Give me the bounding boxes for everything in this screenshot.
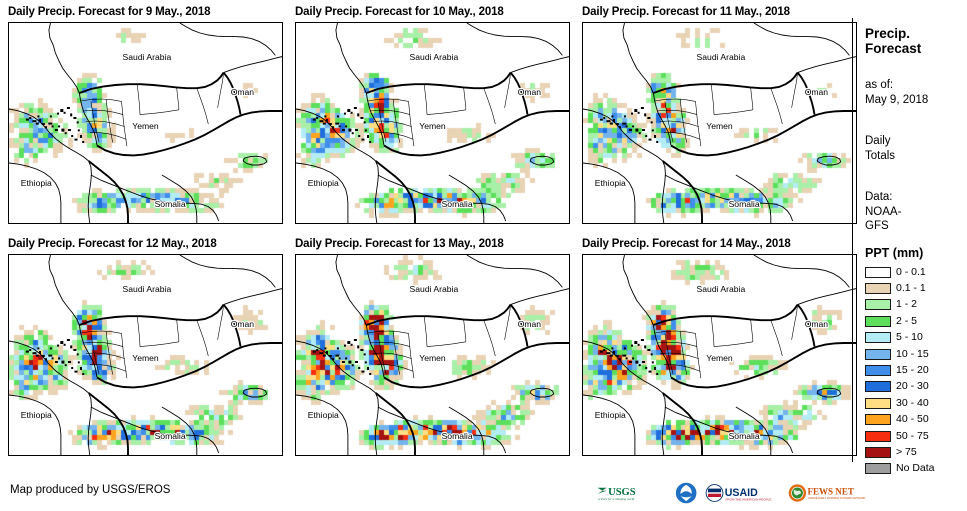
legend-label: 5 - 10 — [896, 332, 923, 343]
terrain-speckle — [642, 361, 645, 363]
country-label: Yemen — [419, 121, 446, 131]
national-border — [97, 111, 282, 155]
terrain-speckle — [313, 351, 316, 353]
legend-label: 0 - 0.1 — [896, 267, 926, 278]
terrain-speckle — [369, 141, 371, 143]
admin-boundary — [680, 99, 687, 142]
coastline — [296, 163, 348, 223]
terrain-speckle — [60, 109, 63, 112]
sidebar-asof-date: May 9, 2018 — [865, 93, 965, 108]
terrain-speckle — [348, 361, 351, 364]
coastline — [530, 388, 554, 397]
admin-boundary — [368, 99, 409, 101]
terrain-speckle — [64, 344, 66, 346]
legend-item: 5 - 10 — [865, 330, 935, 346]
national-border — [97, 343, 282, 387]
terrain-speckle — [351, 112, 353, 114]
national-border — [671, 343, 856, 387]
terrain-speckle — [652, 129, 654, 131]
admin-boundary — [657, 342, 697, 346]
terrain-speckle — [656, 373, 658, 375]
legend-label: 0.1 - 1 — [896, 283, 926, 294]
terrain-speckle — [324, 115, 326, 117]
terrain-speckle — [71, 135, 73, 137]
admin-boundary — [660, 121, 699, 127]
map-panel-title: Daily Precip. Forecast for 9 May., 2018 — [8, 6, 210, 18]
terrain-speckle — [639, 364, 641, 366]
terrain-speckle — [58, 125, 60, 127]
legend-swatch — [865, 414, 891, 425]
svg-text:USGS: USGS — [608, 487, 636, 498]
country-label: Ethiopia — [595, 178, 626, 188]
admin-boundary — [409, 101, 414, 146]
admin-boundary — [696, 333, 701, 378]
terrain-speckle — [55, 129, 58, 131]
country-label: Yemen — [706, 353, 733, 363]
terrain-speckle — [600, 351, 603, 353]
usgs-logo: USGS science for a changing world — [596, 480, 668, 506]
coastline — [467, 23, 563, 55]
legend-swatch — [865, 447, 891, 458]
national-border — [366, 305, 510, 325]
terrain-speckle — [624, 115, 626, 117]
terrain-speckle — [80, 367, 82, 370]
admin-boundary — [106, 331, 113, 374]
coastline — [336, 23, 384, 145]
terrain-speckle — [622, 355, 626, 357]
legend-item: No Data — [865, 461, 935, 477]
terrain-speckle — [50, 347, 52, 349]
coastline — [817, 388, 841, 397]
coastline — [224, 289, 282, 305]
coastline — [296, 341, 378, 455]
country-label: Saudi Arabia — [410, 284, 459, 294]
country-label: Ethiopia — [308, 410, 339, 420]
terrain-speckle — [355, 361, 358, 363]
admin-boundary — [137, 317, 140, 347]
legend-item: 0 - 0.1 — [865, 264, 935, 280]
legend-item: 20 - 30 — [865, 379, 935, 395]
coastline — [798, 57, 856, 73]
national-border — [663, 161, 702, 223]
sidebar-data-source: Data: NOAA- GFS — [865, 190, 965, 234]
admin-boundary — [409, 333, 414, 378]
legend-swatch — [865, 431, 891, 442]
terrain-speckle — [610, 123, 613, 125]
legend-label: 40 - 50 — [896, 414, 929, 425]
terrain-speckle — [357, 113, 359, 116]
legend: PPT (mm) 0 - 0.10.1 - 11 - 22 - 55 - 101… — [852, 246, 967, 474]
admin-boundary — [484, 88, 496, 124]
map-panel-title: Daily Precip. Forecast for 10 May., 2018 — [295, 6, 504, 18]
legend-item: 0.1 - 1 — [865, 280, 935, 296]
terrain-speckle — [629, 129, 632, 131]
terrain-speckle — [645, 367, 647, 369]
terrain-speckle — [52, 357, 54, 359]
terrain-speckle — [352, 364, 354, 366]
sidebar-title: Precip. Forecast — [865, 26, 965, 56]
admin-boundary — [714, 110, 753, 115]
terrain-speckle — [641, 339, 644, 341]
national-border — [376, 393, 415, 455]
terrain-speckle — [37, 347, 39, 349]
admin-boundary — [197, 88, 209, 124]
terrain-speckle — [367, 135, 369, 138]
precip-forecast-figure: Daily Precip. Forecast for 9 May., 2018S… — [0, 0, 967, 511]
country-label: Somalia — [155, 199, 186, 209]
terrain-speckle — [351, 344, 353, 346]
coastline — [665, 175, 793, 221]
terrain-speckle — [654, 367, 656, 370]
terrain-speckle — [649, 139, 652, 141]
terrain-speckle — [37, 115, 39, 117]
country-label: Yemen — [706, 121, 733, 131]
admin-boundary — [771, 320, 783, 356]
admin-boundary — [106, 99, 113, 142]
country-label: Somalia — [729, 431, 760, 441]
legend-divider — [852, 246, 853, 462]
admin-boundary — [370, 342, 410, 346]
admin-boundary — [657, 110, 697, 114]
coastline — [9, 109, 91, 223]
national-border — [89, 393, 128, 455]
terrain-speckle — [335, 123, 339, 125]
legend-item: 50 - 75 — [865, 428, 935, 444]
terrain-speckle — [357, 345, 359, 348]
terrain-speckle — [632, 357, 634, 359]
admin-boundary — [83, 342, 123, 346]
coastline — [583, 163, 635, 223]
admin-boundary — [424, 85, 427, 115]
admin-boundary — [660, 353, 699, 359]
terrain-speckle — [70, 345, 72, 348]
terrain-speckle — [647, 117, 650, 119]
admin-boundary — [86, 121, 125, 127]
map-vector-overlay: Saudi ArabiaSaudi ArabiaOmanOmanYemenYem… — [583, 255, 856, 455]
terrain-speckle — [635, 361, 638, 364]
admin-boundary — [81, 99, 122, 101]
legend-swatch — [865, 267, 891, 278]
country-label: Oman — [805, 319, 829, 329]
terrain-speckle — [600, 119, 603, 121]
terrain-speckle — [65, 132, 67, 134]
terrain-speckle — [358, 367, 360, 369]
terrain-speckle — [607, 352, 611, 354]
legend-label: 1 - 2 — [896, 299, 917, 310]
terrain-speckle — [362, 371, 365, 373]
admin-boundary — [484, 320, 496, 356]
terrain-speckle — [607, 120, 611, 122]
national-border — [366, 73, 510, 93]
terrain-speckle — [622, 123, 626, 125]
terrain-speckle — [360, 349, 363, 351]
admin-boundary — [714, 342, 753, 347]
terrain-speckle — [33, 352, 37, 354]
terrain-speckle — [55, 361, 58, 363]
country-label: Ethiopia — [21, 178, 52, 188]
svg-text:science for a changing world: science for a changing world — [598, 497, 634, 501]
admin-boundary — [373, 353, 412, 359]
sidebar-data-line1: NOAA- — [865, 205, 965, 220]
terrain-speckle — [610, 355, 613, 357]
terrain-speckle — [364, 121, 366, 123]
coastline — [91, 407, 219, 453]
country-label: Yemen — [132, 121, 159, 131]
terrain-speckle — [339, 357, 341, 359]
coastline — [224, 57, 282, 73]
terrain-speckle — [342, 361, 345, 363]
country-label: Ethiopia — [595, 410, 626, 420]
country-label: Somalia — [729, 199, 760, 209]
terrain-speckle — [634, 341, 637, 344]
admin-boundary — [393, 331, 400, 374]
national-border — [653, 73, 797, 93]
terrain-speckle — [344, 113, 346, 115]
terrain-speckle — [352, 132, 354, 134]
terrain-speckle — [365, 129, 367, 131]
terrain-speckle — [360, 117, 363, 119]
terrain-speckle — [58, 357, 60, 359]
map-panel: Daily Precip. Forecast for 9 May., 2018S… — [8, 6, 283, 224]
noaa-logo — [675, 480, 697, 506]
sidebar-totals-line1: Daily — [865, 134, 965, 149]
legend-swatch — [865, 398, 891, 409]
admin-boundary — [140, 342, 179, 347]
terrain-speckle — [67, 339, 70, 341]
country-label: Oman — [805, 87, 829, 97]
terrain-speckle — [367, 367, 369, 370]
coastline — [243, 388, 267, 397]
terrain-speckle — [354, 107, 357, 109]
terrain-speckle — [651, 353, 653, 355]
terrain-speckle — [342, 129, 345, 131]
national-border — [79, 73, 223, 93]
terrain-speckle — [645, 135, 647, 137]
admin-boundary — [424, 317, 427, 347]
coastline — [336, 255, 384, 377]
admin-boundary — [771, 88, 783, 124]
country-label: Oman — [231, 319, 255, 329]
admin-boundary — [177, 319, 179, 341]
map-panel-title: Daily Precip. Forecast for 14 May., 2018 — [582, 238, 791, 250]
svg-text:FEWS NET: FEWS NET — [807, 486, 853, 496]
coastline — [9, 163, 61, 223]
terrain-speckle — [652, 361, 654, 363]
terrain-speckle — [316, 349, 318, 351]
terrain-speckle — [339, 125, 341, 127]
map-vector-overlay: Saudi ArabiaSaudi ArabiaOmanOmanYemenYem… — [296, 255, 569, 455]
admin-boundary — [83, 110, 123, 114]
legend-swatch — [865, 463, 891, 474]
coastline — [530, 156, 554, 165]
terrain-speckle — [654, 135, 656, 138]
admin-boundary — [197, 320, 209, 356]
terrain-speckle — [29, 349, 31, 351]
national-border — [663, 393, 702, 455]
map-vector-overlay: Saudi ArabiaSaudi ArabiaOmanOmanYemenYem… — [9, 23, 282, 223]
terrain-speckle — [639, 132, 641, 134]
country-label: Somalia — [442, 199, 473, 209]
terrain-speckle — [324, 347, 326, 349]
map-panel-frame[interactable]: Saudi ArabiaSaudi ArabiaOmanOmanYemenYem… — [582, 254, 857, 456]
admin-boundary — [711, 317, 714, 347]
terrain-speckle — [624, 347, 626, 349]
map-panel: Daily Precip. Forecast for 11 May., 2018… — [582, 6, 857, 224]
map-panel-frame[interactable]: Saudi ArabiaSaudi ArabiaOmanOmanYemenYem… — [295, 254, 570, 456]
admin-boundary — [655, 99, 696, 101]
terrain-speckle — [611, 115, 613, 117]
terrain-speckle — [48, 355, 52, 357]
coastline — [583, 109, 665, 223]
country-label: Yemen — [419, 353, 446, 363]
legend-label: 10 - 15 — [896, 349, 929, 360]
admin-boundary — [370, 110, 410, 114]
terrain-speckle — [77, 121, 79, 123]
legend-item: 40 - 50 — [865, 412, 935, 428]
admin-boundary — [368, 331, 409, 333]
country-label: Saudi Arabia — [123, 284, 172, 294]
admin-boundary — [427, 110, 466, 115]
map-panel-title: Daily Precip. Forecast for 11 May., 2018 — [582, 6, 790, 18]
terrain-speckle — [649, 371, 652, 373]
terrain-speckle — [651, 121, 653, 123]
admin-boundary — [122, 101, 127, 146]
admin-boundary — [751, 87, 753, 109]
admin-boundary — [464, 319, 466, 341]
map-panel: Daily Precip. Forecast for 13 May., 2018… — [295, 238, 570, 456]
coastline — [9, 395, 61, 455]
coastline — [378, 175, 506, 221]
coastline — [583, 395, 635, 455]
terrain-speckle — [75, 139, 78, 141]
national-border — [376, 161, 415, 223]
coastline — [180, 255, 276, 287]
terrain-speckle — [345, 357, 347, 359]
legend-item: 2 - 5 — [865, 313, 935, 329]
admin-boundary — [680, 331, 687, 374]
coastline — [623, 255, 671, 377]
map-panel-frame[interactable]: Saudi ArabiaSaudi ArabiaOmanOmanYemenYem… — [295, 22, 570, 224]
terrain-speckle — [64, 112, 66, 114]
terrain-speckle — [337, 347, 339, 349]
coastline — [754, 23, 850, 55]
terrain-speckle — [603, 117, 605, 119]
sidebar-data-label: Data: — [865, 190, 965, 205]
terrain-speckle — [634, 109, 637, 112]
terrain-speckle — [320, 120, 324, 122]
legend-swatch — [865, 332, 891, 343]
coastline — [296, 109, 378, 223]
map-panel-frame[interactable]: Saudi ArabiaSaudi ArabiaOmanOmanYemenYem… — [8, 254, 283, 456]
admin-boundary — [393, 99, 400, 142]
admin-boundary — [464, 87, 466, 109]
legend-label: 20 - 30 — [896, 381, 929, 392]
terrain-speckle — [631, 345, 633, 347]
admin-boundary — [655, 331, 696, 333]
legend-label: 15 - 20 — [896, 365, 929, 376]
terrain-speckle — [73, 349, 76, 351]
map-vector-overlay: Saudi ArabiaSaudi ArabiaOmanOmanYemenYem… — [9, 255, 282, 455]
country-label: Somalia — [442, 431, 473, 441]
coastline — [467, 255, 563, 287]
legend-item: 30 - 40 — [865, 395, 935, 411]
terrain-speckle — [323, 123, 326, 125]
sidebar-asof: as of: May 9, 2018 — [865, 78, 965, 107]
coastline — [49, 255, 97, 377]
country-label: Oman — [518, 319, 542, 329]
admin-boundary — [427, 342, 466, 347]
terrain-speckle — [345, 125, 347, 127]
coastline — [296, 395, 348, 455]
terrain-speckle — [67, 107, 70, 109]
coastline — [91, 175, 219, 221]
terrain-speckle — [65, 364, 67, 366]
terrain-speckle — [313, 119, 316, 121]
terrain-speckle — [347, 341, 350, 344]
terrain-speckle — [80, 135, 82, 138]
fewsnet-logo: FEWS NET FAMINE EARLY WARNING SYSTEMS NE… — [788, 480, 866, 506]
legend-item: 15 - 20 — [865, 362, 935, 378]
coastline — [49, 23, 97, 145]
terrain-speckle — [348, 129, 351, 132]
national-border — [653, 305, 797, 325]
national-border — [89, 161, 128, 223]
terrain-speckle — [60, 341, 63, 344]
sidebar-data-line2: GFS — [865, 219, 965, 234]
country-label: Saudi Arabia — [123, 52, 172, 62]
admin-boundary — [86, 353, 125, 359]
terrain-speckle — [323, 355, 326, 357]
terrain-speckle — [78, 129, 80, 131]
terrain-speckle — [344, 345, 346, 347]
terrain-speckle — [626, 357, 628, 359]
terrain-speckle — [68, 129, 71, 131]
terrain-speckle — [68, 361, 71, 363]
terrain-speckle — [75, 371, 78, 373]
legend-swatch — [865, 299, 891, 310]
map-panel-frame[interactable]: Saudi ArabiaSaudi ArabiaOmanOmanYemenYem… — [582, 22, 857, 224]
map-panel-title: Daily Precip. Forecast for 12 May., 2018 — [8, 238, 217, 250]
coastline — [9, 341, 91, 455]
admin-boundary — [177, 87, 179, 109]
coastline — [511, 57, 569, 73]
terrain-speckle — [50, 115, 52, 117]
admin-boundary — [373, 121, 412, 127]
legend-swatch — [865, 349, 891, 360]
admin-boundary — [711, 85, 714, 115]
terrain-speckle — [70, 113, 72, 116]
admin-boundary — [696, 101, 701, 146]
terrain-speckle — [29, 117, 31, 119]
legend-label: 2 - 5 — [896, 316, 917, 327]
legend-label: 50 - 75 — [896, 431, 929, 442]
svg-text:FAMINE EARLY WARNING SYSTEMS N: FAMINE EARLY WARNING SYSTEMS NETWORK — [808, 497, 865, 500]
terrain-speckle — [36, 123, 39, 125]
terrain-speckle — [364, 353, 366, 355]
terrain-speckle — [644, 113, 646, 116]
national-border — [671, 111, 856, 155]
terrain-speckle — [82, 141, 84, 143]
map-panel-frame[interactable]: Saudi ArabiaSaudi ArabiaOmanOmanYemenYem… — [8, 22, 283, 224]
terrain-speckle — [635, 129, 638, 132]
terrain-speckle — [48, 123, 52, 125]
terrain-speckle — [603, 349, 605, 351]
terrain-speckle — [78, 361, 80, 363]
coastline — [754, 255, 850, 287]
admin-boundary — [122, 333, 127, 378]
terrain-speckle — [335, 355, 339, 357]
terrain-speckle — [641, 107, 644, 109]
